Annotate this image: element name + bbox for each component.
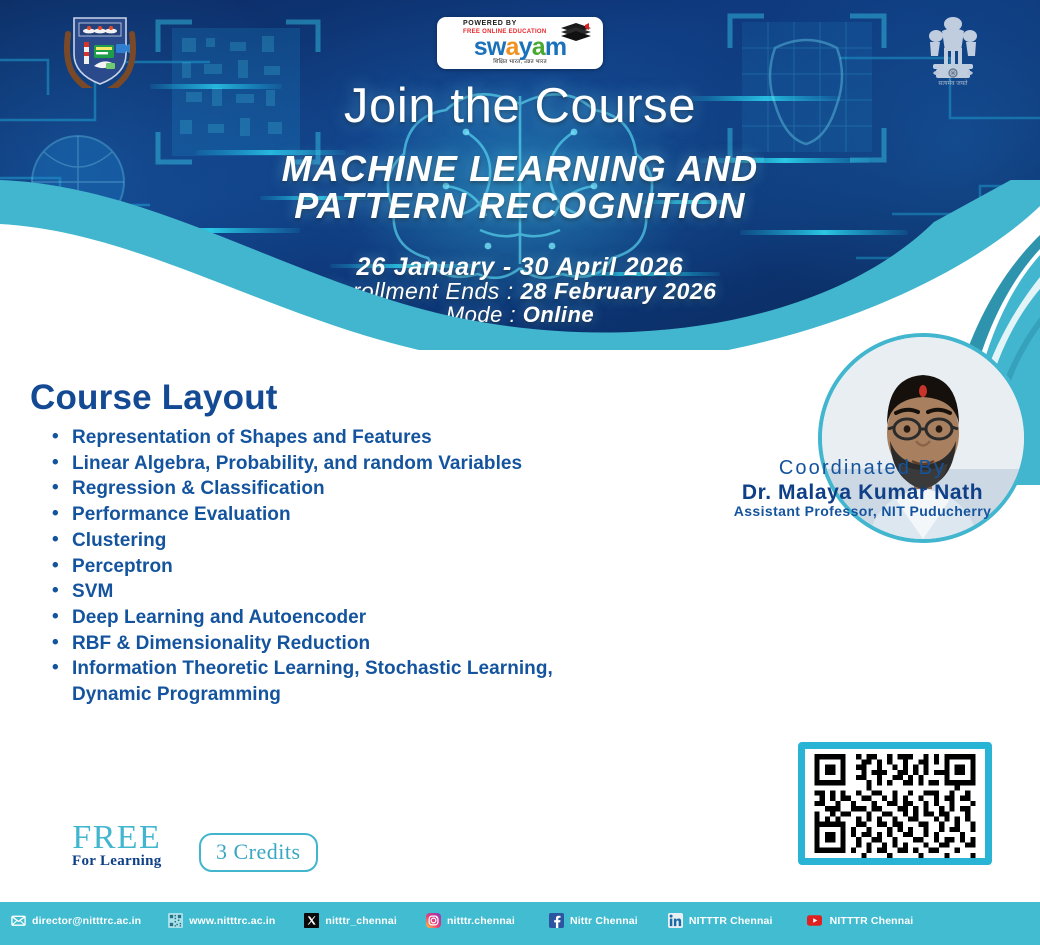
list-item: Perceptron <box>44 554 724 580</box>
svg-text:सत्यमेव जयते: सत्यमेव जयते <box>938 79 968 87</box>
facebook-icon <box>549 913 564 928</box>
course-layout-heading: Course Layout <box>30 378 278 418</box>
for-learning-label: For Learning <box>72 853 162 870</box>
course-title-line-1: MACHINE LEARNING AND <box>0 150 1040 187</box>
course-title: MACHINE LEARNING AND PATTERN RECOGNITION <box>0 150 1040 224</box>
list-item: Clustering <box>44 528 724 554</box>
coordinator-role: Assistant Professor, NIT Puducherry <box>690 503 1035 519</box>
x-twitter-icon <box>304 913 319 928</box>
join-the-course-heading: Join the Course <box>0 78 1040 134</box>
free-label: FREE <box>72 823 162 853</box>
footer-youtube-label: NITTTR Chennai <box>830 915 914 927</box>
list-item-label: Deep Learning and Autoencoder <box>72 607 366 628</box>
list-item: RBF & Dimensionality Reduction <box>44 631 724 657</box>
list-item: SVM <box>44 579 724 605</box>
list-item: Deep Learning and Autoencoder <box>44 605 724 631</box>
youtube-icon <box>805 913 824 928</box>
course-poster: Join the Course MACHINE LEARNING AND PAT… <box>0 0 1040 945</box>
coordinator-name: Dr. Malaya Kumar Nath <box>690 481 1035 505</box>
footer-email[interactable]: director@nitttrc.ac.in <box>11 913 141 928</box>
list-item-label-continued: Dynamic Programming <box>72 682 724 708</box>
list-item-label: RBF & Dimensionality Reduction <box>72 633 370 654</box>
list-item: Performance Evaluation <box>44 502 724 528</box>
list-item-label: Perceptron <box>72 556 173 577</box>
swayam-logo: POWERED BY FREE ONLINE EDUCATION swayam … <box>437 17 603 69</box>
footer-instagram[interactable]: nitttr.chennai <box>426 913 515 928</box>
list-item: Linear Algebra, Probability, and random … <box>44 451 724 477</box>
footer-linkedin[interactable]: NITTTR Chennai <box>668 913 773 928</box>
coordinator-photo-frame <box>818 333 1028 453</box>
india-national-emblem: सत्यमेव जयते <box>922 12 984 88</box>
footer-instagram-label: nitttr.chennai <box>447 915 515 927</box>
footer-x-twitter-label: nitttr_chennai <box>325 915 397 927</box>
list-item-label: SVM <box>72 581 113 602</box>
instagram-icon <box>426 913 441 928</box>
footer-facebook-label: Nittr Chennai <box>570 915 638 927</box>
free-for-learning-badge: FREE For Learning <box>72 823 162 870</box>
coordinated-by-label: Coordinated By <box>690 457 1035 480</box>
swayam-hindi-tagline: शिक्षित भारत, उन्नत भारत <box>443 59 597 66</box>
nitttr-crest-logo <box>58 14 142 88</box>
linkedin-icon <box>668 913 683 928</box>
list-item: Representation of Shapes and Features <box>44 425 724 451</box>
contact-footer: director@nitttrc.ac.in www.nitttrc.ac.in <box>0 902 1040 945</box>
list-item-label: Representation of Shapes and Features <box>72 427 432 448</box>
footer-website-label: www.nitttrc.ac.in <box>189 915 275 927</box>
course-layout-list: Representation of Shapes and Features Li… <box>44 425 724 708</box>
list-item-label: Performance Evaluation <box>72 504 291 525</box>
list-item-label: Regression & Classification <box>72 478 325 499</box>
qr-code-graphic <box>805 749 985 858</box>
footer-email-label: director@nitttrc.ac.in <box>32 915 141 927</box>
list-item-label: Clustering <box>72 530 166 551</box>
list-item-label: Linear Algebra, Probability, and random … <box>72 453 522 474</box>
list-item: Regression & Classification <box>44 476 724 502</box>
list-item-label: Information Theoretic Learning, Stochast… <box>72 658 553 679</box>
credits-badge: 3 Credits <box>199 833 318 872</box>
website-icon <box>168 913 183 928</box>
email-icon <box>11 913 26 928</box>
footer-facebook[interactable]: Nittr Chennai <box>549 913 638 928</box>
books-icon <box>559 21 593 41</box>
footer-linkedin-label: NITTTR Chennai <box>689 915 773 927</box>
footer-youtube[interactable]: NITTTR Chennai <box>805 913 914 928</box>
list-item: Information Theoretic Learning, Stochast… <box>44 656 724 707</box>
enrollment-qr-code[interactable] <box>798 742 992 865</box>
footer-website[interactable]: www.nitttrc.ac.in <box>168 913 275 928</box>
footer-x-twitter[interactable]: nitttr_chennai <box>304 913 397 928</box>
